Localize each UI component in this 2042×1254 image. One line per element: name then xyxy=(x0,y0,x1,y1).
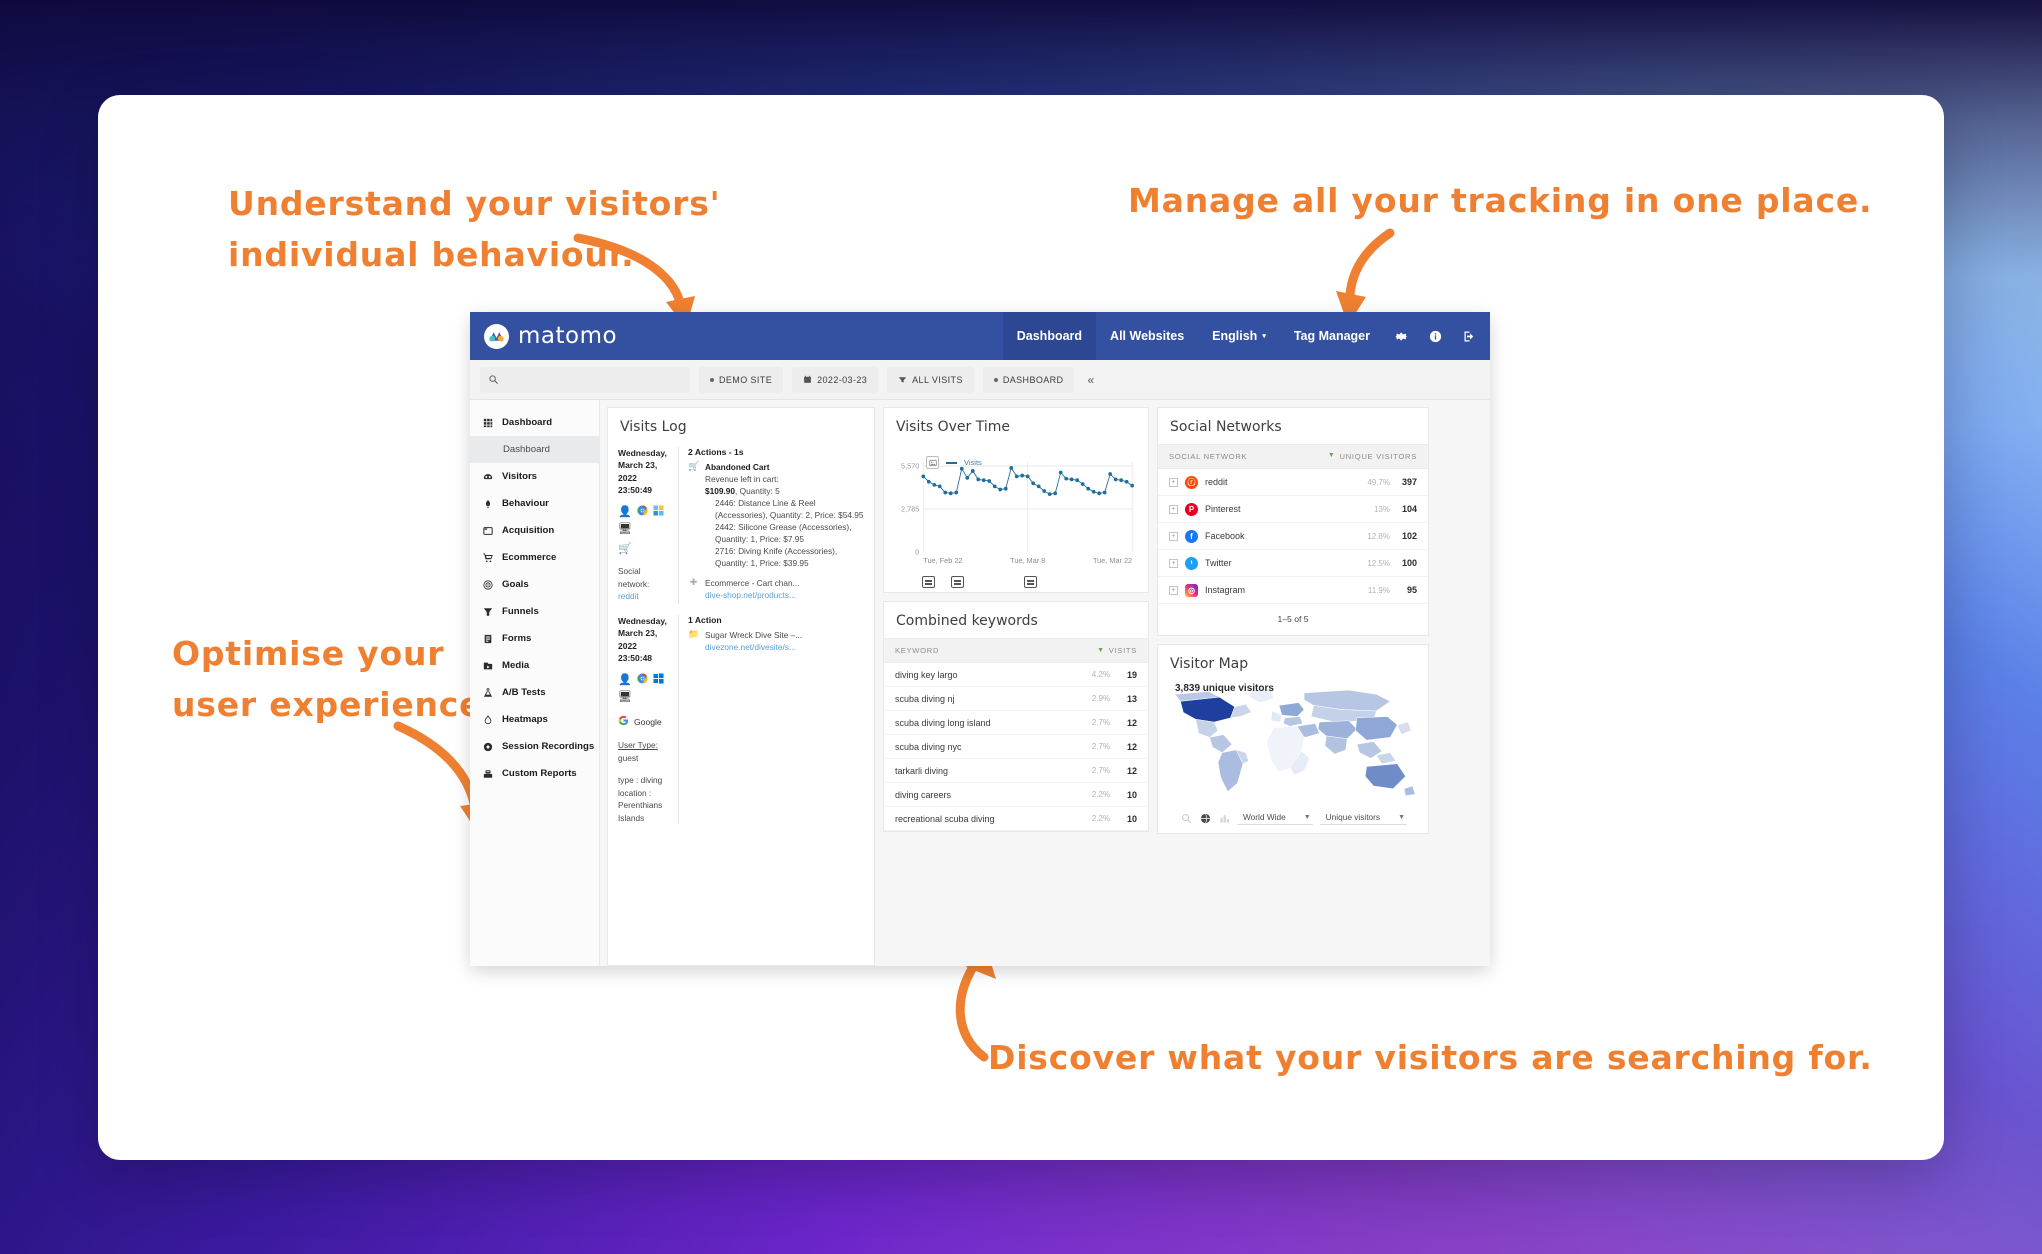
annotation-optimise-ux: Optimise your user experience. xyxy=(172,628,496,730)
google-icon xyxy=(618,715,629,729)
visit-log-entry: Wednesday, March 23, 2022 23:50:48 👤 🖥 xyxy=(608,612,874,824)
map-metric-select[interactable]: Unique visitors▼ xyxy=(1320,811,1407,825)
sidebar-item-forms[interactable]: Forms xyxy=(470,625,599,652)
social-networks-title: Social Networks xyxy=(1158,408,1428,444)
search-icon xyxy=(488,374,499,385)
visit-referrer-link[interactable]: reddit xyxy=(618,591,639,601)
matomo-dashboard-window: matomo Dashboard All Websites English▾ T… xyxy=(470,312,1490,966)
action-line-product-1: 2446: Distance Line & Reel (Accessories)… xyxy=(705,497,864,521)
chevron-down-icon: ▼ xyxy=(1304,814,1311,821)
widget-visitor-map: Visitor Map 3,839 unique visitors xyxy=(1157,644,1429,834)
visitor-map-title: Visitor Map xyxy=(1158,645,1428,681)
goals-icon xyxy=(482,580,493,590)
sidebar-item-heatmaps[interactable]: Heatmaps xyxy=(470,706,599,733)
page-dot-icon xyxy=(994,378,998,382)
svg-text:5,570: 5,570 xyxy=(901,462,919,471)
sort-desc-icon: ▼ xyxy=(1328,452,1336,460)
social-brand-icon: ⓡ xyxy=(1185,476,1198,489)
expand-row-icon[interactable]: + xyxy=(1169,505,1178,514)
acquisition-icon xyxy=(482,526,493,536)
table-row[interactable]: diving key largo4.2%19 xyxy=(884,663,1148,687)
social-percent: 11.9% xyxy=(1368,586,1390,595)
action-label: Sugar Wreck Dive Site –... xyxy=(705,629,802,641)
reports-icon xyxy=(482,769,493,779)
export-icon[interactable] xyxy=(1218,812,1230,824)
chart-legend: Visits xyxy=(926,456,982,469)
action-label: Abandoned Cart xyxy=(705,461,864,473)
sidebar-subitem-dashboard-label: Dashboard xyxy=(503,444,550,455)
funnel-icon xyxy=(482,607,493,617)
keyword-rows: diving key largo4.2%19scuba diving nj2.9… xyxy=(884,663,1148,831)
sidebar-subitem-dashboard[interactable]: Dashboard xyxy=(470,436,599,463)
segment-selector-label: ALL VISITS xyxy=(912,375,963,385)
social-unique-visitors: 397 xyxy=(1397,477,1417,487)
pagination-label: 1–5 of 5 xyxy=(1158,604,1428,635)
sidebar-item-ecommerce[interactable]: Ecommerce xyxy=(470,544,599,571)
action-line-revenue: $109.90, Quantity: 5 xyxy=(705,485,864,497)
sidebar-item-forms-label: Forms xyxy=(502,633,531,644)
gear-icon[interactable] xyxy=(1384,312,1418,360)
action-line-product-3: 2716: Diving Knife (Accessories), Quanti… xyxy=(705,545,864,569)
chevron-down-icon: ▾ xyxy=(1262,332,1266,340)
visit-referrer-row: Google xyxy=(618,715,672,729)
visits-over-time-chart[interactable]: Visits 02,7855,570Tue, Feb 22Tue, Mar 8T… xyxy=(884,444,1148,592)
site-dot-icon xyxy=(710,378,714,382)
flask-icon xyxy=(482,688,493,698)
sidebar-item-session-recordings[interactable]: Session Recordings xyxy=(470,733,599,760)
social-brand-icon: P xyxy=(1185,503,1198,516)
expand-row-icon[interactable]: + xyxy=(1169,559,1178,568)
record-icon xyxy=(482,742,493,752)
visit-actions-header: 2 Actions - 1s xyxy=(688,447,864,457)
windows-icon xyxy=(653,673,664,687)
revenue-quantity: , Quantity: 5 xyxy=(735,486,780,496)
device-desktop-icon: 🖥 xyxy=(618,524,632,535)
collapse-icon[interactable]: « xyxy=(1087,373,1094,387)
visit-referrer-name: Google xyxy=(634,717,662,727)
topnav-all-websites-label: All Websites xyxy=(1110,329,1184,343)
keyword-visits: 12 xyxy=(1117,742,1137,752)
visit-timestamp: Wednesday, March 23, 2022 23:50:48 xyxy=(618,615,672,664)
social-percent: 13% xyxy=(1374,505,1390,514)
visit-referrer: Social network: reddit xyxy=(618,565,672,602)
topnav-tag-manager-label: Tag Manager xyxy=(1294,329,1370,343)
keyword-name: scuba diving nj xyxy=(895,694,1085,704)
social-percent: 12.5% xyxy=(1367,559,1390,568)
page-icon: 📁 xyxy=(688,629,699,653)
visit-user-type-label: User Type: xyxy=(618,740,658,750)
behaviour-icon xyxy=(482,499,493,509)
map-metric-label: Unique visitors xyxy=(1326,812,1380,822)
sidebar-item-funnels-label: Funnels xyxy=(502,606,539,617)
social-network-name: Facebook xyxy=(1205,531,1360,541)
table-row[interactable]: tarkarli diving2.7%12 xyxy=(884,759,1148,783)
social-brand-icon: f xyxy=(1185,530,1198,543)
keyword-visits: 12 xyxy=(1117,766,1137,776)
keyword-name: recreational scuba diving xyxy=(895,814,1085,824)
table-row[interactable]: scuba diving nj2.9%13 xyxy=(884,687,1148,711)
sidebar-item-acquisition-label: Acquisition xyxy=(502,525,554,536)
matomo-logo[interactable]: matomo xyxy=(484,323,617,349)
keyword-percent: 2.2% xyxy=(1092,814,1110,823)
visitors-icon xyxy=(482,472,493,482)
expand-row-icon[interactable]: + xyxy=(1169,478,1178,487)
widget-visits-over-time: Visits Over Time Visits 02,7855,570Tue, … xyxy=(883,407,1149,593)
keyword-percent: 2.7% xyxy=(1092,718,1110,727)
map-scope-label: World Wide xyxy=(1243,812,1286,822)
social-unique-visitors: 100 xyxy=(1397,558,1417,568)
keyword-percent: 2.7% xyxy=(1092,742,1110,751)
widget-column-2: Visits Over Time Visits 02,7855,570Tue, … xyxy=(883,407,1149,966)
sidebar-item-media[interactable]: Media xyxy=(470,652,599,679)
action-url-link[interactable]: dive-shop.net/products... xyxy=(705,589,800,601)
svg-text:Tue, Mar 8: Tue, Mar 8 xyxy=(1010,556,1045,565)
keyword-visits: 13 xyxy=(1117,694,1137,704)
annotation-discover-searches: Discover what your visitors are searchin… xyxy=(988,1032,1873,1083)
action-line-product-2: 2442: Silicone Grease (Accessories), Qua… xyxy=(705,521,864,545)
column-header-visits-label: VISITS xyxy=(1109,646,1137,655)
widget-column-1: Visits Log Wednesday, March 23, 2022 23:… xyxy=(607,407,875,966)
visit-custom-dimensions: type : diving location : Perenthians Isl… xyxy=(618,774,672,824)
action-line-revenue-label: Revenue left in cart: xyxy=(705,473,864,485)
social-brand-icon: ᵗ xyxy=(1185,557,1198,570)
sidebar-item-acquisition[interactable]: Acquisition xyxy=(470,517,599,544)
social-unique-visitors: 102 xyxy=(1397,531,1417,541)
keyword-name: scuba diving long island xyxy=(895,718,1085,728)
visit-actions: 2 Actions - 1s 🛒 Abandoned Cart Revenue … xyxy=(678,447,864,604)
date-selector[interactable]: 2022-03-23 xyxy=(792,367,878,393)
sidebar-item-ecommerce-label: Ecommerce xyxy=(502,552,556,563)
world-map-svg xyxy=(1168,681,1418,809)
abandoned-cart-icon: 🛒 xyxy=(688,461,699,569)
visit-log-entry: Wednesday, March 23, 2022 23:50:49 👤 🖥 xyxy=(608,444,874,604)
sidebar-item-heatmaps-label: Heatmaps xyxy=(502,714,548,725)
visit-actions-header: 1 Action xyxy=(688,615,864,625)
action-label: Ecommerce - Cart chan... xyxy=(705,577,800,589)
expand-row-icon[interactable]: + xyxy=(1169,586,1178,595)
annotation-marker-icon[interactable] xyxy=(922,576,935,588)
sort-desc-icon: ▼ xyxy=(1097,647,1105,654)
visits-log-title: Visits Log xyxy=(608,408,874,444)
search-input[interactable] xyxy=(480,367,690,393)
table-header: SOCIAL NETWORK ▼UNIQUE VISITORS xyxy=(1158,444,1428,469)
social-network-rows: +ⓡreddit49.7%397+PPinterest13%104+fFaceb… xyxy=(1158,469,1428,604)
heatmap-icon xyxy=(482,715,493,725)
sidebar-item-custom-reports-label: Custom Reports xyxy=(502,768,577,779)
widget-columns: Visits Log Wednesday, March 23, 2022 23:… xyxy=(600,400,1490,966)
visit-icon-row: 👤 🖥 xyxy=(618,505,672,535)
table-row[interactable]: scuba diving long island2.7%12 xyxy=(884,711,1148,735)
social-network-name: Pinterest xyxy=(1205,504,1367,514)
device-desktop-icon: 🖥 xyxy=(618,692,632,703)
site-selector[interactable]: DEMO SITE xyxy=(699,367,783,393)
cart-icon xyxy=(482,553,493,563)
table-row[interactable]: +ᵗTwitter12.5%100 xyxy=(1158,550,1428,577)
social-unique-visitors: 104 xyxy=(1397,504,1417,514)
sidebar-item-custom-reports[interactable]: Custom Reports xyxy=(470,760,599,787)
chevron-down-icon: ▼ xyxy=(1398,814,1405,821)
sidebar-item-dashboard[interactable]: Dashboard xyxy=(470,409,599,436)
expand-row-icon[interactable]: + xyxy=(1169,532,1178,541)
sidebar-item-session-recordings-label: Session Recordings xyxy=(502,741,594,752)
keyword-percent: 2.9% xyxy=(1092,694,1110,703)
column-header-unique-visitors-label: UNIQUE VISITORS xyxy=(1340,452,1417,461)
chrome-icon xyxy=(637,505,648,519)
topnav-dashboard-label: Dashboard xyxy=(1017,329,1082,343)
table-header: KEYWORD ▼VISITS xyxy=(884,638,1148,663)
visit-goal-icon-row: 🛒 xyxy=(618,544,672,555)
legend-line-swatch xyxy=(946,462,957,464)
keyword-name: scuba diving nyc xyxy=(895,742,1085,752)
visit-user-type: User Type: guest xyxy=(618,739,672,764)
visit-user-type-value: guest xyxy=(618,753,638,763)
action-body: Abandoned Cart Revenue left in cart: $10… xyxy=(705,461,864,569)
social-brand-icon: ◎ xyxy=(1185,584,1198,597)
info-icon[interactable] xyxy=(1418,312,1452,360)
social-network-name: reddit xyxy=(1205,477,1360,487)
widget-column-3: Social Networks SOCIAL NETWORK ▼UNIQUE V… xyxy=(1157,407,1429,966)
combined-keywords-title: Combined keywords xyxy=(884,602,1148,638)
social-network-name: Twitter xyxy=(1205,558,1360,568)
column-header-visits[interactable]: ▼VISITS xyxy=(1097,646,1137,655)
image-icon[interactable] xyxy=(926,456,939,469)
action-item-abandoned-cart[interactable]: 🛒 Abandoned Cart Revenue left in cart: $… xyxy=(688,461,864,569)
ecommerce-icon: ✚ xyxy=(688,577,699,601)
table-row[interactable]: +◎Instagram11.9%95 xyxy=(1158,577,1428,604)
annotation-marker-icon[interactable] xyxy=(1024,576,1037,588)
site-selector-label: DEMO SITE xyxy=(719,375,772,385)
keyword-name: diving careers xyxy=(895,790,1085,800)
page-selector-label: DASHBOARD xyxy=(1003,375,1064,385)
keyword-name: tarkarli diving xyxy=(895,766,1085,776)
media-icon xyxy=(482,661,493,671)
sidebar-item-ab-tests-label: A/B Tests xyxy=(502,687,546,698)
calendar-icon xyxy=(803,375,812,384)
svg-text:Tue, Mar 22: Tue, Mar 22 xyxy=(1093,556,1132,565)
widget-combined-keywords: Combined keywords KEYWORD ▼VISITS diving… xyxy=(883,601,1149,832)
forms-icon xyxy=(482,634,493,644)
grid-icon xyxy=(482,418,493,428)
top-nav-items: Dashboard All Websites English▾ Tag Mana… xyxy=(1003,312,1486,360)
sidebar-item-goals-label: Goals xyxy=(502,579,529,590)
topnav-language-label: English xyxy=(1212,329,1257,343)
visits-over-time-title: Visits Over Time xyxy=(884,408,1148,444)
column-header-keyword[interactable]: KEYWORD xyxy=(895,646,1097,655)
matomo-mark-icon xyxy=(484,324,509,349)
revenue-amount: $109.90 xyxy=(705,486,735,496)
visit-referrer-label: Social network: xyxy=(618,566,649,588)
map-scope-select[interactable]: World Wide▼ xyxy=(1237,811,1313,825)
action-item-page[interactable]: 📁 Sugar Wreck Dive Site –... divezone.ne… xyxy=(688,629,864,653)
keyword-visits: 10 xyxy=(1117,814,1137,824)
visitor-map-canvas[interactable]: 3,839 unique visitors xyxy=(1158,681,1428,833)
svg-text:Tue, Feb 22: Tue, Feb 22 xyxy=(923,556,962,565)
visit-meta: Wednesday, March 23, 2022 23:50:49 👤 🖥 xyxy=(618,447,678,604)
sidebar-item-visitors-label: Visitors xyxy=(502,471,537,482)
sidebar-item-behaviour-label: Behaviour xyxy=(502,498,549,509)
widget-visits-log: Visits Log Wednesday, March 23, 2022 23:… xyxy=(607,407,875,966)
social-percent: 12.8% xyxy=(1367,532,1390,541)
visitor-map-count: 3,839 unique visitors xyxy=(1175,683,1274,694)
sidebar-item-goals[interactable]: Goals xyxy=(470,571,599,598)
chart-annotation-icons xyxy=(884,574,1148,592)
table-row[interactable]: scuba diving nyc2.7%12 xyxy=(884,735,1148,759)
sidebar-item-behaviour[interactable]: Behaviour xyxy=(470,490,599,517)
os-icon xyxy=(653,505,664,519)
action-body: Ecommerce - Cart chan... dive-shop.net/p… xyxy=(705,577,800,601)
topnav-all-websites[interactable]: All Websites xyxy=(1096,312,1198,360)
selector-bar: DEMO SITE 2022-03-23 ALL VISITS DASHBOAR… xyxy=(470,360,1490,400)
chrome-icon xyxy=(637,673,648,687)
globe-icon[interactable] xyxy=(1199,812,1211,824)
sidebar-item-ab-tests[interactable]: A/B Tests xyxy=(470,679,599,706)
topnav-tag-manager[interactable]: Tag Manager xyxy=(1280,312,1384,360)
annotation-marker-icon[interactable] xyxy=(951,576,964,588)
action-item-ecommerce[interactable]: ✚ Ecommerce - Cart chan... dive-shop.net… xyxy=(688,577,864,601)
action-url-link[interactable]: divezone.net/divesite/s... xyxy=(705,641,802,653)
action-body: Sugar Wreck Dive Site –... divezone.net/… xyxy=(705,629,802,653)
social-unique-visitors: 95 xyxy=(1397,585,1417,595)
signin-icon[interactable] xyxy=(1452,312,1486,360)
segment-selector[interactable]: ALL VISITS xyxy=(887,367,974,393)
visit-icon-row: 👤 🖥 xyxy=(618,673,672,703)
dashboard-body: Dashboard Dashboard Visitors Behaviour A… xyxy=(470,400,1490,966)
table-row[interactable]: diving careers2.2%10 xyxy=(884,783,1148,807)
sidebar-item-dashboard-label: Dashboard xyxy=(502,417,552,428)
annotation-manage-tracking: Manage all your tracking in one place. xyxy=(1128,175,1872,226)
visit-actions: 1 Action 📁 Sugar Wreck Dive Site –... di… xyxy=(678,615,864,824)
widget-social-networks: Social Networks SOCIAL NETWORK ▼UNIQUE V… xyxy=(1157,407,1429,636)
top-navigation-bar: matomo Dashboard All Websites English▾ T… xyxy=(470,312,1490,360)
visit-meta: Wednesday, March 23, 2022 23:50:48 👤 🖥 xyxy=(618,615,678,824)
table-row[interactable]: +ⓡreddit49.7%397 xyxy=(1158,469,1428,496)
segment-icon xyxy=(898,375,907,384)
zoom-out-icon[interactable] xyxy=(1180,812,1192,824)
keyword-percent: 2.2% xyxy=(1092,790,1110,799)
social-percent: 49.7% xyxy=(1367,478,1390,487)
svg-text:0: 0 xyxy=(915,548,919,557)
abandoned-cart-icon: 🛒 xyxy=(618,544,632,555)
table-row[interactable]: recreational scuba diving2.2%10 xyxy=(884,807,1148,831)
visit-custom-value: type : diving location : Perenthians Isl… xyxy=(618,775,662,822)
sidebar-item-funnels[interactable]: Funnels xyxy=(470,598,599,625)
left-sidebar: Dashboard Dashboard Visitors Behaviour A… xyxy=(470,400,600,966)
visitor-icon: 👤 xyxy=(618,675,632,686)
page-selector[interactable]: DASHBOARD xyxy=(983,367,1075,393)
svg-text:2,785: 2,785 xyxy=(901,505,919,514)
keyword-visits: 19 xyxy=(1117,670,1137,680)
visit-timestamp: Wednesday, March 23, 2022 23:50:49 xyxy=(618,447,672,496)
column-header-unique-visitors[interactable]: ▼UNIQUE VISITORS xyxy=(1328,452,1417,461)
visitor-map-toolbar: World Wide▼ Unique visitors▼ xyxy=(1168,809,1418,825)
keyword-percent: 4.2% xyxy=(1092,670,1110,679)
sidebar-item-visitors[interactable]: Visitors xyxy=(470,463,599,490)
brand-name: matomo xyxy=(518,323,617,349)
table-row[interactable]: +PPinterest13%104 xyxy=(1158,496,1428,523)
legend-label: Visits xyxy=(964,458,982,467)
social-network-name: Instagram xyxy=(1205,585,1361,595)
visitor-icon: 👤 xyxy=(618,507,632,518)
keyword-visits: 10 xyxy=(1117,790,1137,800)
topnav-dashboard[interactable]: Dashboard xyxy=(1003,312,1096,360)
keyword-percent: 2.7% xyxy=(1092,766,1110,775)
sidebar-item-media-label: Media xyxy=(502,660,529,671)
keyword-name: diving key largo xyxy=(895,670,1085,680)
table-row[interactable]: +fFacebook12.8%102 xyxy=(1158,523,1428,550)
column-header-social-network[interactable]: SOCIAL NETWORK xyxy=(1169,452,1328,461)
topnav-language-select[interactable]: English▾ xyxy=(1198,312,1280,360)
date-selector-label: 2022-03-23 xyxy=(817,375,867,385)
keyword-visits: 12 xyxy=(1117,718,1137,728)
